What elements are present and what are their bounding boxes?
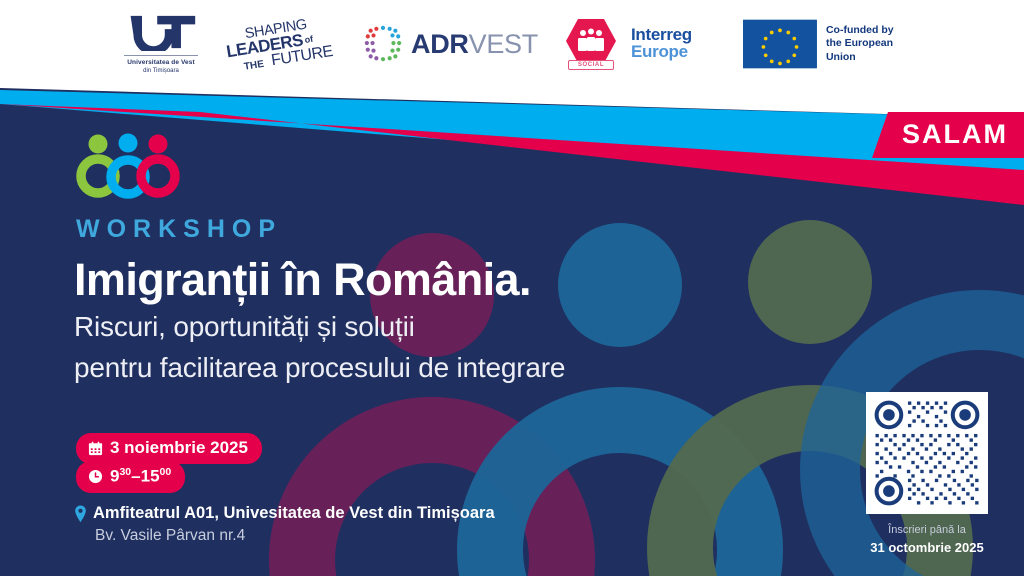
partner-logo-bar: Universitatea de Vest din Timișoara SHAP… bbox=[0, 0, 1024, 88]
subtitle-line-1: Riscuri, oportunități și soluții bbox=[74, 311, 415, 343]
logo-interreg-europe: Interreg Europe bbox=[631, 27, 743, 60]
logo-uvt: Universitatea de Vest din Timișoara bbox=[101, 13, 221, 74]
logo-eu-cofunded: Co-funded by the European Union bbox=[743, 19, 923, 69]
social-label: SOCIAL bbox=[568, 60, 614, 70]
interreg-line2: Europe bbox=[631, 44, 688, 61]
adrvest-word-bold: ADR bbox=[411, 29, 469, 59]
time-end-min: 00 bbox=[160, 466, 172, 478]
subtitle-line-2: pentru facilitarea procesului de integra… bbox=[74, 352, 565, 384]
logo-social: SOCIAL bbox=[551, 18, 631, 70]
adrvest-wordmark: ADRVEST bbox=[411, 29, 538, 60]
venue-line: Amfiteatrul A01, Univesitatea de Vest di… bbox=[74, 504, 495, 523]
social-hexagon-icon bbox=[565, 18, 617, 64]
time-dash: – bbox=[131, 467, 140, 486]
eu-line1: Co-funded by bbox=[826, 24, 923, 37]
uvt-name-line1: Universitatea de Vest bbox=[127, 59, 195, 66]
page-title: Imigranții în România. bbox=[74, 254, 531, 306]
qr-caption-line1: Înscrieri până la bbox=[866, 524, 988, 536]
shaping-word4: THE bbox=[243, 59, 265, 73]
time-badge: 930–1500 bbox=[76, 461, 185, 493]
uvt-name-line2: din Timișoara bbox=[143, 68, 179, 75]
adrvest-dots-icon bbox=[364, 25, 402, 63]
qr-caption-line2: 31 octombrie 2025 bbox=[866, 540, 988, 555]
clock-icon bbox=[88, 469, 103, 484]
salam-badge: SALAM bbox=[872, 112, 1024, 158]
uvt-mark-icon bbox=[123, 13, 199, 51]
shaping-leaders-mark-icon: SHAPING LEADERS of THE FUTURE bbox=[221, 15, 351, 73]
logo-adrvest: ADRVEST bbox=[351, 25, 551, 63]
map-pin-icon bbox=[74, 505, 87, 523]
registration-qr-code[interactable] bbox=[866, 392, 988, 514]
eu-text: Co-funded by the European Union bbox=[826, 24, 923, 64]
venue-text: Amfiteatrul A01, Univesitatea de Vest di… bbox=[93, 504, 495, 523]
time-start-min: 30 bbox=[119, 466, 131, 478]
uvt-divider bbox=[124, 55, 198, 56]
kicker-workshop: WORKSHOP bbox=[76, 215, 282, 244]
eu-line2: the European Union bbox=[826, 37, 923, 64]
logo-shaping-leaders: SHAPING LEADERS of THE FUTURE bbox=[221, 15, 351, 73]
eu-flag-icon bbox=[743, 19, 817, 69]
qr-code-image bbox=[871, 397, 983, 509]
date-badge: 3 noiembrie 2025 bbox=[76, 433, 262, 464]
calendar-icon bbox=[88, 441, 103, 456]
time-text: 930–1500 bbox=[110, 466, 171, 487]
shaping-word3: of bbox=[304, 34, 315, 45]
event-poster: Universitatea de Vest din Timișoara SHAP… bbox=[0, 0, 1024, 576]
adrvest-word-light: VEST bbox=[469, 29, 538, 59]
date-text: 3 noiembrie 2025 bbox=[110, 438, 248, 458]
salam-brand-people-icon bbox=[76, 133, 180, 199]
time-end-hour: 15 bbox=[141, 467, 160, 486]
address-text: Bv. Vasile Pârvan nr.4 bbox=[95, 527, 245, 545]
